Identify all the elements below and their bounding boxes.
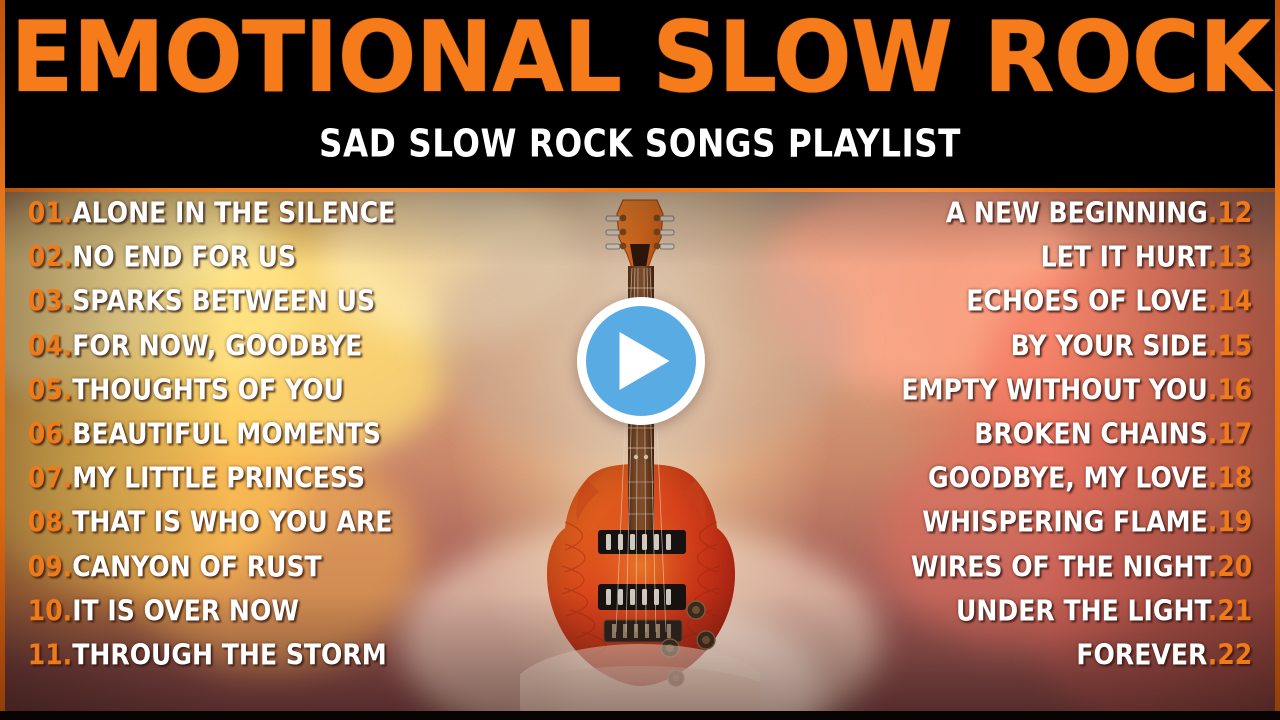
track-item[interactable]: 10.IT IS OVER NOW [24,588,489,635]
track-title: WIRES OF THE NIGHT [911,551,1208,584]
track-number: .14 [1208,285,1252,318]
track-number: 04. [28,330,72,363]
track-number: 08. [28,506,72,539]
track-item[interactable]: GOODBYE, MY LOVE.18 [772,456,1256,503]
track-number: .18 [1208,462,1252,495]
track-title: LET IT HURT [1041,241,1208,274]
track-item[interactable]: 02.NO END FOR US [24,235,489,282]
track-item[interactable]: 07.MY LITTLE PRINCESS [24,456,489,503]
track-number: 05. [28,374,72,407]
track-title: UNDER THE LIGHT [956,595,1208,628]
track-item[interactable]: UNDER THE LIGHT.21 [772,588,1256,635]
track-number: 01. [28,197,72,230]
header-banner: EMOTIONAL SLOW ROCK SAD SLOW ROCK SONGS … [0,0,1280,192]
track-item[interactable]: BY YOUR SIDE.15 [772,323,1256,370]
track-item[interactable]: EMPTY WITHOUT YOU.16 [772,367,1256,414]
track-number: 11. [28,639,72,672]
track-number: .12 [1208,197,1252,230]
frame-border-left [0,0,5,720]
track-title: FOREVER [1076,639,1207,672]
track-item[interactable]: 06.BEAUTIFUL MOMENTS [24,412,489,459]
page-subtitle: SAD SLOW ROCK SONGS PLAYLIST [26,122,1255,167]
track-title: CANYON OF RUST [72,551,321,584]
header-divider [0,188,1280,192]
track-title: BEAUTIFUL MOMENTS [72,418,381,451]
track-title: A NEW BEGINNING [946,197,1208,230]
track-item[interactable]: LET IT HURT.13 [772,235,1256,282]
track-number: .17 [1208,418,1252,451]
track-title: ECHOES OF LOVE [966,285,1208,318]
track-item[interactable]: WIRES OF THE NIGHT.20 [772,544,1256,591]
track-title: THAT IS WHO YOU ARE [72,506,392,539]
track-title: EMPTY WITHOUT YOU [901,374,1207,407]
frame-border-bottom [0,711,1280,720]
track-number: 07. [28,462,72,495]
track-item[interactable]: 05.THOUGHTS OF YOU [24,367,489,414]
track-title: WHISPERING FLAME [922,506,1207,539]
tracklist-left-column: 01.ALONE IN THE SILENCE 02.NO END FOR US… [24,192,524,678]
tracklist: 01.ALONE IN THE SILENCE 02.NO END FOR US… [0,192,1280,720]
track-title: BY YOUR SIDE [1011,330,1208,363]
track-number: .22 [1208,639,1252,672]
track-item[interactable]: BROKEN CHAINS.17 [772,412,1256,459]
track-item[interactable]: 08.THAT IS WHO YOU ARE [24,500,489,547]
tracklist-right-column: A NEW BEGINNING.12 LET IT HURT.13 ECHOES… [736,192,1256,678]
track-title: FOR NOW, GOODBYE [72,330,362,363]
track-item[interactable]: 09.CANYON OF RUST [24,544,489,591]
track-title: NO END FOR US [72,241,296,274]
track-item[interactable]: FOREVER.22 [772,633,1256,680]
track-item[interactable]: 03.SPARKS BETWEEN US [24,279,489,326]
frame-border-right [1275,0,1280,720]
track-title: SPARKS BETWEEN US [72,285,375,318]
track-number: 02. [28,241,72,274]
track-title: MY LITTLE PRINCESS [72,462,365,495]
track-number: 09. [28,551,72,584]
track-number: .19 [1208,506,1252,539]
track-number: .16 [1208,374,1252,407]
page-title: EMOTIONAL SLOW ROCK [0,3,1280,112]
track-number: 06. [28,418,72,451]
video-thumbnail: 01.ALONE IN THE SILENCE 02.NO END FOR US… [0,0,1280,720]
track-item[interactable]: A NEW BEGINNING.12 [772,191,1256,238]
track-title: GOODBYE, MY LOVE [928,462,1208,495]
track-number: .15 [1208,330,1252,363]
track-title: THOUGHTS OF YOU [72,374,344,407]
track-item[interactable]: 01.ALONE IN THE SILENCE [24,191,489,238]
track-item[interactable]: WHISPERING FLAME.19 [772,500,1256,547]
track-number: .13 [1208,241,1252,274]
track-title: THROUGH THE STORM [72,639,387,672]
track-number: 03. [28,285,72,318]
track-number: .21 [1208,595,1252,628]
track-title: IT IS OVER NOW [72,595,299,628]
track-item[interactable]: 11.THROUGH THE STORM [24,633,489,680]
track-item[interactable]: ECHOES OF LOVE.14 [772,279,1256,326]
track-title: ALONE IN THE SILENCE [72,197,395,230]
track-item[interactable]: 04.FOR NOW, GOODBYE [24,323,489,370]
track-number: .20 [1208,551,1252,584]
track-title: BROKEN CHAINS [974,418,1208,451]
track-number: 10. [28,595,72,628]
